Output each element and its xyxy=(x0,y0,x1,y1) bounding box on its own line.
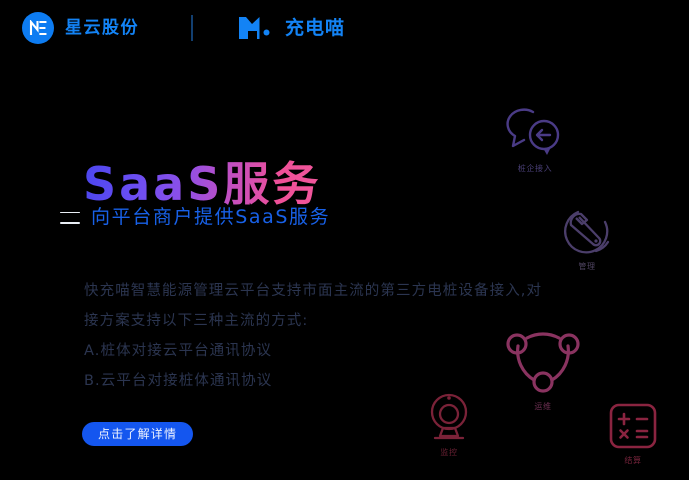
brand-divider xyxy=(191,15,193,41)
decor-label: 监控 xyxy=(440,449,457,457)
decor-settle: 结算 xyxy=(607,402,659,465)
subtitle-row: 向平台商户提供SaaS服务 xyxy=(60,208,330,227)
network-share-icon xyxy=(501,324,585,400)
camera-monitor-icon xyxy=(425,390,473,446)
brand-chargemiao[interactable]: 充电喵 xyxy=(237,15,345,41)
body-line: 快充喵智慧能源管理云平台支持市面主流的第三方电桩设备接入,对 xyxy=(84,276,584,306)
decor-label: 结算 xyxy=(624,457,641,465)
ne-monogram-circle-icon xyxy=(22,12,54,44)
wrench-tool-icon xyxy=(562,206,612,260)
page-subtitle: 向平台商户提供SaaS服务 xyxy=(91,208,330,227)
chargemiao-cat-mark-icon xyxy=(237,15,277,41)
hamburger-icon xyxy=(60,212,80,224)
calculator-icon xyxy=(607,402,659,454)
brand-chargemiao-label: 充电喵 xyxy=(285,19,345,38)
brand-xingyun-label: 星云股份 xyxy=(65,20,139,37)
brand-xingyun[interactable]: 星云股份 xyxy=(22,12,139,44)
decor-chat-bubbles: 桩企接入 xyxy=(503,104,567,173)
decor-label: 管理 xyxy=(578,263,595,271)
decor-label: 运维 xyxy=(534,403,551,411)
decor-manage: 管理 xyxy=(562,206,612,271)
page-title: SaaS服务 xyxy=(83,158,321,211)
decor-camera: 监控 xyxy=(425,390,473,457)
decor-label: 桩企接入 xyxy=(518,165,552,173)
page-header: 星云股份 充电喵 xyxy=(0,0,689,56)
decor-network: 运维 xyxy=(501,324,585,411)
chat-bubbles-arrow-icon xyxy=(503,104,567,162)
promo-page: 星云股份 充电喵 SaaS服务 向平台商户提供SaaS服务 快充喵智慧能源管理云… xyxy=(0,0,689,480)
learn-more-button[interactable]: 点击了解详情 xyxy=(82,422,193,446)
